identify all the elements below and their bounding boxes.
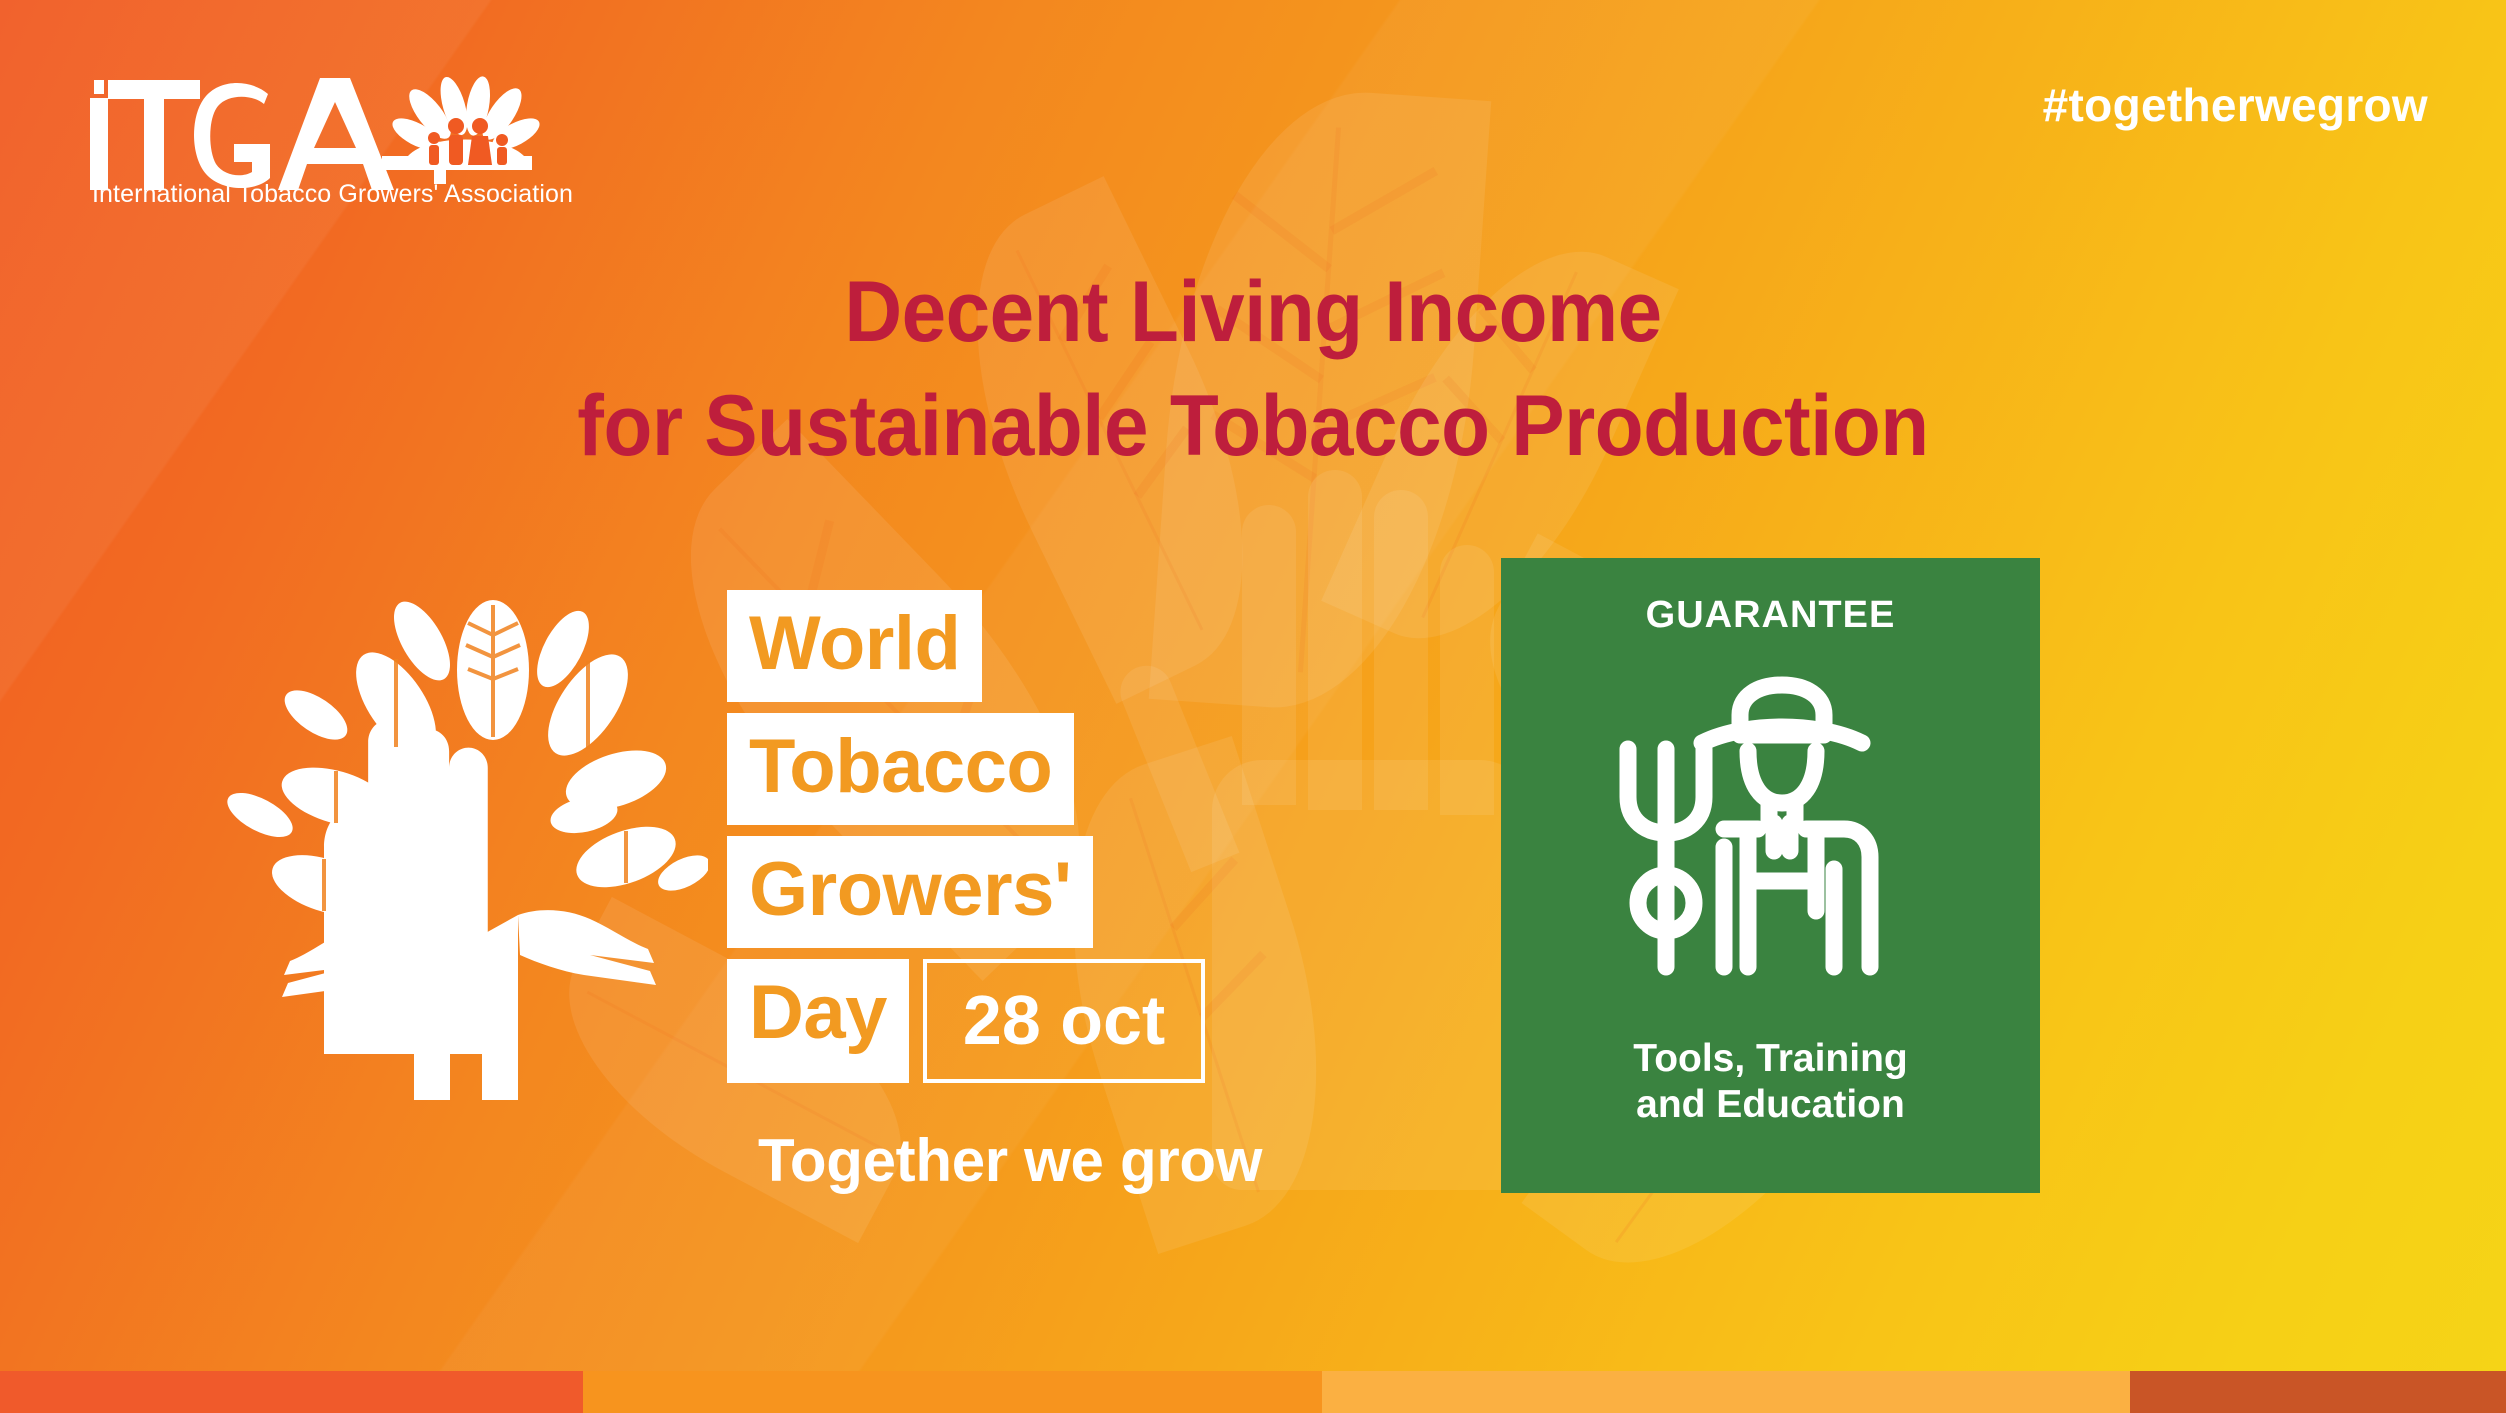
event-title-row: World: [727, 590, 1205, 702]
itga-logo[interactable]: International Tobacco Growers' Associati…: [82, 52, 552, 222]
event-title-block: World Tobacco Growers' Day 28 oct: [727, 590, 1205, 1094]
guarantee-caption: Tools, Training and Education: [1633, 1036, 1907, 1128]
banner-canvas: International Tobacco Growers' Associati…: [0, 0, 2506, 1413]
farmer-with-pitchfork-icon: [1606, 651, 1936, 1026]
headline-line-2: for Sustainable Tobacco Production: [88, 370, 2419, 484]
guarantee-card: GUARANTEE: [1501, 558, 2040, 1193]
headline-line-1: Decent Living Income: [844, 264, 1661, 360]
event-tagline: Together we grow: [758, 1126, 1262, 1195]
hands-tree-illustration: [218, 575, 708, 1100]
bar-segment-2: [583, 1371, 1322, 1413]
event-word-day: Day: [727, 959, 909, 1083]
bar-segment-4: [2130, 1371, 2506, 1413]
event-title-row: Growers': [727, 836, 1205, 948]
page-title: Decent Living Income for Sustainable Tob…: [88, 256, 2419, 483]
hands-tree-icon: [218, 575, 708, 1100]
event-word-tobacco: Tobacco: [727, 713, 1074, 825]
event-date-badge: 28 oct: [923, 959, 1205, 1083]
guarantee-caption-line-1: Tools, Training: [1633, 1036, 1907, 1082]
event-title-row: Day 28 oct: [727, 959, 1205, 1083]
bottom-color-bar: [0, 1371, 2506, 1413]
itga-logo-subtitle: International Tobacco Growers' Associati…: [92, 180, 573, 209]
event-title-row: Tobacco: [727, 713, 1205, 825]
guarantee-kicker: GUARANTEE: [1646, 594, 1896, 637]
bar-segment-1: [0, 1371, 583, 1413]
guarantee-caption-line-2: and Education: [1633, 1082, 1907, 1128]
event-word-growers: Growers': [727, 836, 1093, 948]
event-word-world: World: [727, 590, 982, 702]
hashtag-label: #togetherwegrow: [2043, 78, 2428, 132]
bar-segment-3: [1322, 1371, 2130, 1413]
